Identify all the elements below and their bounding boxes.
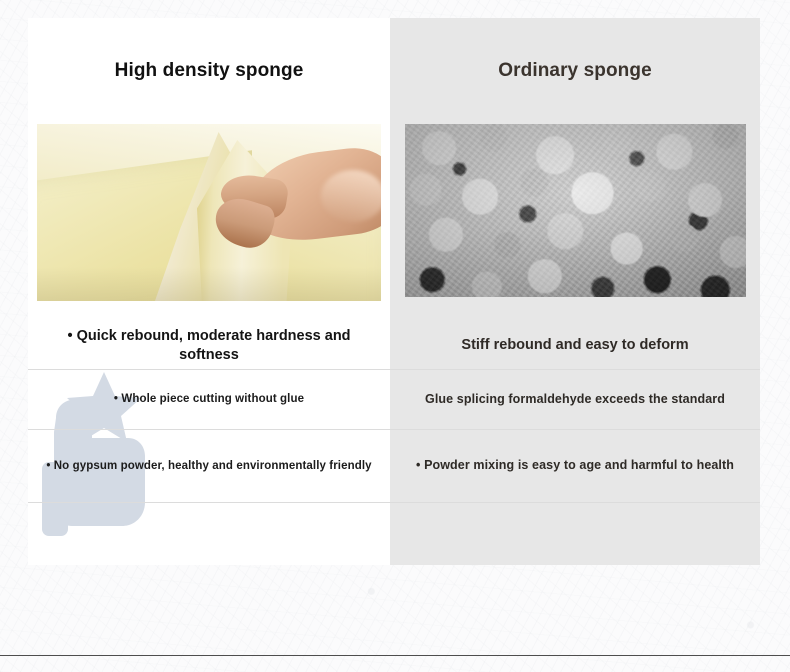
granular-vignette — [405, 124, 746, 297]
hand-pinching-foam — [213, 148, 381, 260]
row-divider — [28, 429, 390, 430]
feature-text: Glue splicing formaldehyde exceeds the s… — [425, 392, 725, 406]
comparison-column-ordinary: Ordinary sponge Stiff rebound and easy t… — [390, 18, 760, 565]
knuckle-highlight — [321, 170, 381, 222]
ordinary-feature-row-2: Glue splicing formaldehyde exceeds the s… — [390, 369, 760, 429]
high-density-title: High density sponge — [115, 60, 304, 82]
row-divider — [390, 429, 760, 430]
comparison-column-high-density: High density sponge • Qui — [28, 18, 390, 565]
feature-text: Powder mixing is easy to age and harmful… — [424, 458, 734, 472]
ordinary-feature-1-text: Stiff rebound and easy to deform — [461, 336, 688, 355]
row-divider — [28, 502, 390, 503]
high-density-header-cell: High density sponge — [28, 18, 390, 124]
ordinary-feature-row-3: • Powder mixing is easy to age and harmf… — [390, 429, 760, 502]
high-density-feature-1-text: • Quick rebound, moderate hardness and s… — [38, 327, 380, 365]
bottom-horizontal-rule — [0, 655, 790, 656]
high-density-feature-2-text: • Whole piece cutting without glue — [114, 391, 304, 407]
ordinary-title: Ordinary sponge — [498, 60, 652, 82]
ordinary-media-cell — [390, 124, 760, 322]
gray-granular-foam-photo — [405, 124, 746, 297]
yellow-high-density-foam-photo — [37, 124, 381, 301]
bullet-marker: • — [67, 328, 72, 344]
bullet-marker: • — [416, 458, 420, 472]
bullet-marker: • — [114, 393, 118, 405]
ordinary-feature-3-text: • Powder mixing is easy to age and harmf… — [416, 457, 734, 474]
high-density-feature-row-2: • Whole piece cutting without glue — [28, 369, 390, 429]
high-density-feature-3-text: • No gypsum powder, healthy and environm… — [46, 458, 371, 474]
feature-text: Quick rebound, moderate hardness and sof… — [77, 328, 351, 363]
ordinary-feature-row-4 — [390, 502, 760, 565]
bullet-marker: • — [46, 460, 50, 472]
row-divider — [390, 502, 760, 503]
high-density-feature-row-4 — [28, 502, 390, 565]
feature-text: Stiff rebound and easy to deform — [461, 337, 688, 353]
sponge-comparison-table: High density sponge • Qui — [28, 18, 760, 565]
ordinary-header-cell: Ordinary sponge — [390, 18, 760, 124]
row-divider — [28, 369, 390, 370]
high-density-media-cell — [28, 124, 390, 322]
feature-text: No gypsum powder, healthy and environmen… — [54, 460, 372, 472]
feature-text: Whole piece cutting without glue — [121, 393, 304, 405]
high-density-feature-row-3: • No gypsum powder, healthy and environm… — [28, 429, 390, 502]
ordinary-feature-row-1: Stiff rebound and easy to deform — [390, 322, 760, 369]
high-density-feature-row-1: • Quick rebound, moderate hardness and s… — [28, 322, 390, 369]
ordinary-feature-2-text: Glue splicing formaldehyde exceeds the s… — [425, 391, 725, 408]
foam-ground-shadow — [37, 267, 381, 301]
row-divider — [390, 369, 760, 370]
